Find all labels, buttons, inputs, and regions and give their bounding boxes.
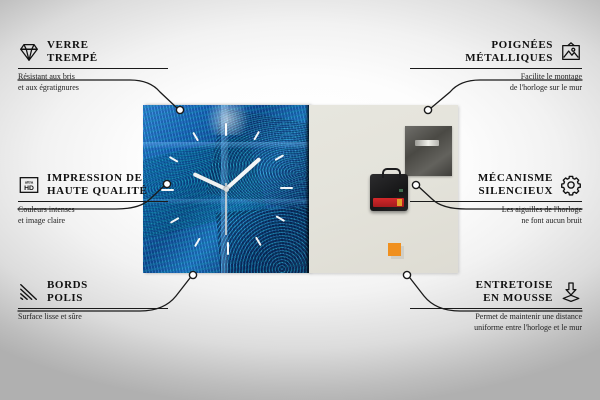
svg-text:ultra: ultra <box>25 181 34 185</box>
mechanism-hook <box>382 168 401 178</box>
clock-hub <box>224 187 229 192</box>
callout-header: MÉCANISME SILENCIEUX <box>410 172 582 198</box>
clock-tick <box>253 131 260 141</box>
callout-rule <box>18 308 168 309</box>
metal-hanger-plate <box>405 126 452 176</box>
svg-text:HD: HD <box>24 185 34 192</box>
callout-entretoise-en-mousse[interactable]: ENTRETOISE EN MOUSSE Permet de maintenir… <box>410 279 582 334</box>
clock-tick <box>170 217 180 224</box>
callout-header: POIGNÉES MÉTALLIQUES <box>410 39 582 65</box>
clock-mechanism <box>370 174 408 211</box>
gear-icon <box>560 174 582 196</box>
mechanism-indicator <box>399 189 403 192</box>
clock-tick <box>192 132 199 142</box>
callout-title: MÉCANISME SILENCIEUX <box>478 172 553 198</box>
clock-tick <box>255 236 262 246</box>
clock-tick <box>274 154 284 161</box>
clock-tick <box>194 237 201 247</box>
down-arrow-pad-icon <box>560 281 582 303</box>
callout-rule <box>410 201 582 202</box>
callout-impression-haute-qualite[interactable]: ultra HD IMPRESSION DE HAUTE QUALITÉ Cou… <box>18 172 168 227</box>
callout-bords-polis[interactable]: BORDS POLIS Surface lisse et sûre <box>18 279 168 323</box>
callout-title: ENTRETOISE EN MOUSSE <box>476 279 553 305</box>
diamond-icon <box>18 41 40 63</box>
picture-frame-icon <box>560 41 582 63</box>
callout-title: POIGNÉES MÉTALLIQUES <box>465 39 553 65</box>
callout-desc: Résistant aux bris et aux égratignures <box>18 72 168 94</box>
callout-mecanisme-silencieux[interactable]: MÉCANISME SILENCIEUX Les aiguilles de l'… <box>410 172 582 227</box>
polished-edge-icon <box>18 281 40 303</box>
minute-hand <box>225 157 262 190</box>
callout-header: VERRE TREMPÉ <box>18 39 168 65</box>
callout-header: ENTRETOISE EN MOUSSE <box>410 279 582 305</box>
callout-title: VERRE TREMPÉ <box>47 39 98 65</box>
callout-header: BORDS POLIS <box>18 279 168 305</box>
clock-tick <box>227 242 229 255</box>
clock-tick <box>169 156 179 163</box>
clock-tick <box>275 215 285 222</box>
callout-rule <box>410 308 582 309</box>
clock-tick <box>225 123 227 136</box>
callout-rule <box>18 201 168 202</box>
callout-desc: Couleurs intenses et image claire <box>18 205 168 227</box>
callout-title: BORDS POLIS <box>47 279 88 305</box>
callout-rule <box>18 68 168 69</box>
foam-spacer <box>388 243 401 256</box>
callout-desc: Surface lisse et sûre <box>18 312 168 323</box>
callout-header: ultra HD IMPRESSION DE HAUTE QUALITÉ <box>18 172 168 198</box>
callout-desc: Facilite le montage de l'horloge sur le … <box>410 72 582 94</box>
callout-poignees-metalliques[interactable]: POIGNÉES MÉTALLIQUES Facilite le montage… <box>410 39 582 94</box>
callout-desc: Permet de maintenir une distance uniform… <box>410 312 582 334</box>
infographic-canvas: VERRE TREMPÉ Résistant aux bris et aux é… <box>0 0 600 400</box>
hour-hand <box>193 172 227 191</box>
ultra-hd-icon: ultra HD <box>18 174 40 196</box>
battery <box>373 198 404 207</box>
callout-title: IMPRESSION DE HAUTE QUALITÉ <box>47 172 147 198</box>
clock-tick <box>280 187 293 189</box>
callout-verre-trempe[interactable]: VERRE TREMPÉ Résistant aux bris et aux é… <box>18 39 168 94</box>
callout-desc: Les aiguilles de l'horloge ne font aucun… <box>410 205 582 227</box>
callout-rule <box>410 68 582 69</box>
